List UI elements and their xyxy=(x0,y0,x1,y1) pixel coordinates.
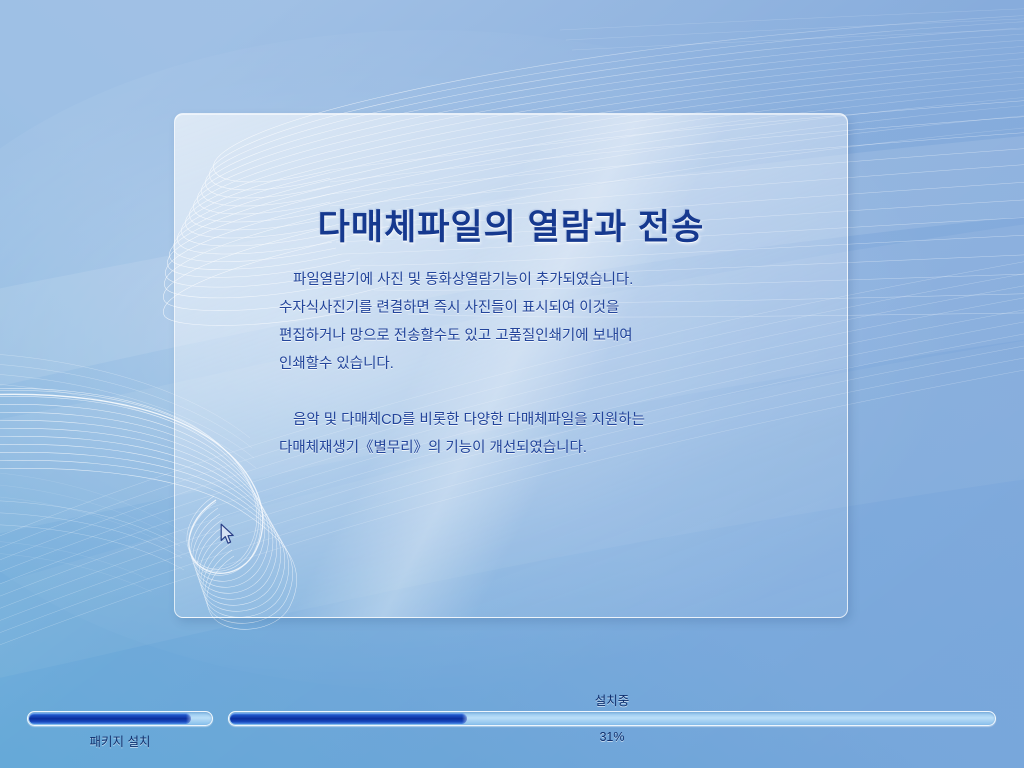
slideshow-panel: 다매체파일의 열람과 전송 파일열람기에 사진 및 동화상열람기능이 추가되였습… xyxy=(174,113,848,618)
installer-progress-area: 패키지 설치 설치중 31% xyxy=(0,688,1024,768)
paragraph-1-line-1: 파일열람기에 사진 및 동화상열람기능이 추가되였습니다. xyxy=(279,266,779,294)
package-progress-fill xyxy=(29,713,191,724)
paragraph-2-line-2: 다매체재생기《별무리》의 기능이 개선되였습니다. xyxy=(279,434,779,462)
paragraph-1-line-2: 수자식사진기를 련결하면 즉시 사진들이 표시되여 이것을 xyxy=(279,294,779,322)
paragraph-1-line-4: 인쇄할수 있습니다. xyxy=(279,350,779,378)
overall-progress-percent: 31% xyxy=(228,730,996,744)
overall-progress-fill xyxy=(230,713,467,724)
overall-progress-bar xyxy=(228,711,996,726)
paragraph-2-line-1: 음악 및 다매체CD를 비롯한 다양한 다매체파일을 지원하는 xyxy=(279,406,779,434)
page-title: 다매체파일의 열람과 전송 xyxy=(175,199,847,250)
panel-body-text: 파일열람기에 사진 및 동화상열람기능이 추가되였습니다. 수자식사진기를 련결… xyxy=(279,266,779,462)
install-status-label: 설치중 xyxy=(228,690,996,709)
package-progress-label: 패키지 설치 xyxy=(27,731,213,750)
paragraph-1-line-3: 편집하거나 망으로 전송할수도 있고 고품질인쇄기에 보내여 xyxy=(279,322,779,350)
package-progress-bar xyxy=(27,711,213,726)
paragraph-spacer xyxy=(279,378,779,406)
